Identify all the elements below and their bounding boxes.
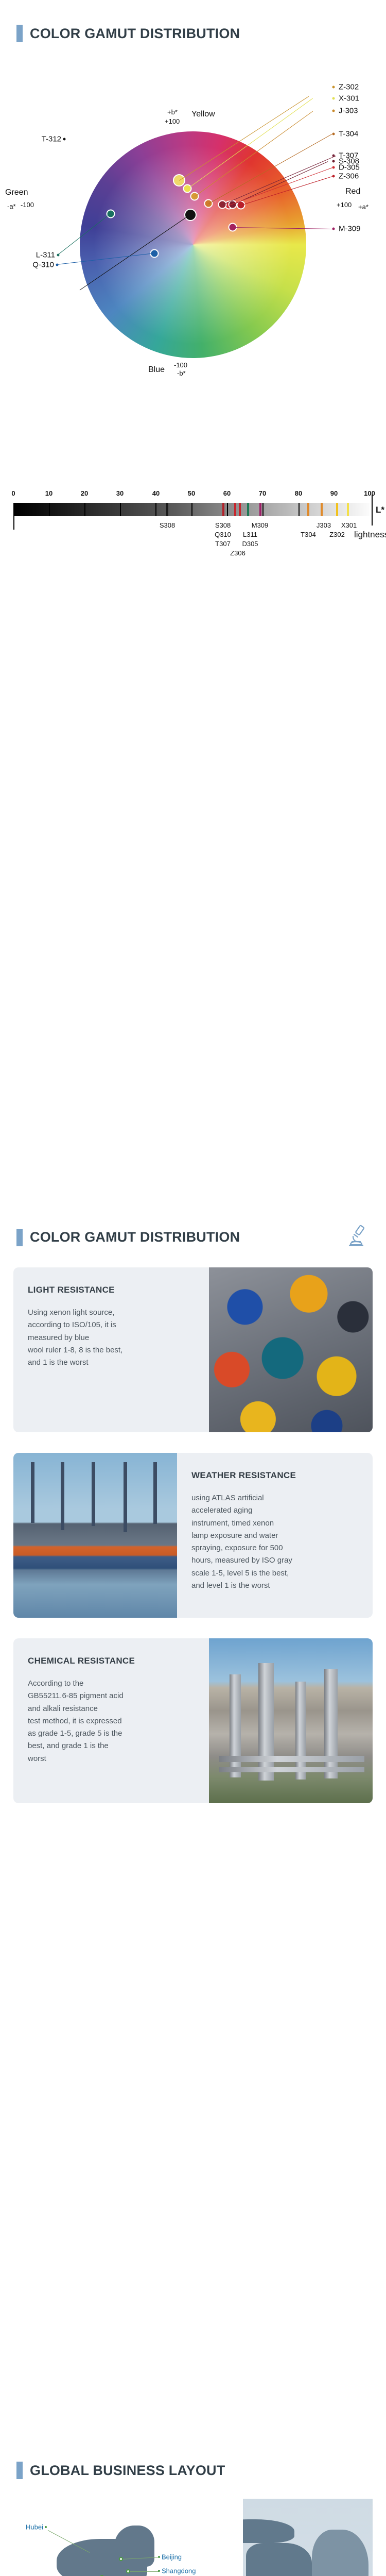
lightness-marker-L311[interactable] (247, 503, 249, 516)
lightness-label-X301: X301 (341, 521, 357, 529)
leader-end-T-312 (63, 138, 66, 141)
lstar-tick-20: 20 (81, 489, 88, 497)
lightness-label-D305: D305 (242, 540, 258, 548)
leader-label-Q-310: Q-310 (32, 261, 54, 269)
lightness-marker-Z302[interactable] (336, 503, 338, 516)
leader-end-M-309 (332, 228, 335, 230)
refinery-pipes-photo (209, 1638, 373, 1803)
city-marker-beijing[interactable] (119, 2557, 123, 2561)
leader-label-L-311: L-311 (36, 251, 55, 260)
axis-bottom-name: Blue (148, 365, 165, 375)
axis-bottom-value: -100 (174, 361, 187, 369)
lightness-end-bar (372, 495, 373, 526)
leader-end-J-303 (332, 110, 335, 112)
lstar-tick-90: 90 (330, 489, 338, 497)
leader-end-X-301 (332, 97, 335, 100)
heading-accent-bar (16, 25, 23, 42)
leader-end-T-304 (332, 133, 335, 135)
axis-top-name: Yellow (191, 110, 215, 119)
leader-end-Q-310 (56, 264, 59, 266)
lightness-marker-S308-b[interactable] (222, 503, 224, 516)
lightness-tickmark-30 (120, 503, 121, 516)
lightness-axis-label: L* (376, 505, 384, 515)
lightness-label-J303: J303 (317, 521, 331, 529)
card-chemical-resistance: CHEMICAL RESISTANCE According to the GB5… (13, 1638, 373, 1803)
lightness-marker-S308-a[interactable] (166, 503, 168, 516)
city-marker-shangdong[interactable] (126, 2569, 130, 2573)
lstar-tick-50: 50 (188, 489, 195, 497)
leader-label-D-305: D-305 (339, 163, 360, 172)
lstar-tick-0: 0 (11, 489, 15, 497)
leader-label-M-309: M-309 (339, 225, 361, 233)
card-title: CHEMICAL RESISTANCE (28, 1656, 196, 1666)
leader-label-T-304: T-304 (339, 130, 358, 139)
leader-label-T-312: T-312 (42, 135, 61, 144)
leader-label-Z-302: Z-302 (339, 83, 359, 92)
lstar-tick-80: 80 (295, 489, 302, 497)
card-body: According to the GB55211.6-85 pigment ac… (28, 1677, 196, 1765)
lstar-tick-40: 40 (152, 489, 160, 497)
lightness-label-Z302: Z302 (329, 531, 345, 538)
lstar-tick-10: 10 (45, 489, 52, 497)
city-marker-central[interactable] (100, 2575, 104, 2576)
section-color-gamut-chart: COLOR GAMUT DISTRIBUTION +b* Yellow +100… (0, 0, 386, 598)
lightness-marker-D305[interactable] (239, 503, 241, 516)
cn-label-shangdong: Shangdong (162, 2567, 196, 2575)
lstar-tick-100: 100 (364, 489, 375, 497)
lightness-marker-X301[interactable] (347, 503, 349, 516)
lightness-axis-caption: lightness (354, 530, 386, 540)
cn-linedot-beijing (158, 2556, 160, 2558)
lab-gamut-disc (80, 131, 306, 358)
card-text-column: CHEMICAL RESISTANCE According to the GB5… (13, 1638, 209, 1803)
leader-end-D-305 (332, 166, 335, 169)
lightness-label-S308-a: S308 (160, 521, 175, 529)
axis-top-symbol: +b* (167, 108, 178, 116)
lstar-tick-60: 60 (223, 489, 231, 497)
sample-dot-T-312[interactable] (184, 209, 197, 221)
sample-dot-L-311[interactable] (107, 210, 115, 218)
section-global-business: GLOBAL BUSINESS LAYOUT (0, 1211, 386, 1628)
lightness-label-Z306: Z306 (230, 549, 245, 557)
lightness-label-L311: L311 (243, 531, 257, 538)
axis-left-symbol: -a* (7, 202, 16, 210)
lightness-marker-T307[interactable] (234, 503, 236, 516)
axis-bottom-symbol: -b* (177, 369, 186, 377)
lightness-marker-M309[interactable] (259, 503, 261, 516)
cn-linedot-hubei (45, 2526, 47, 2528)
lightness-tickmark-70 (262, 503, 264, 516)
lightness-tickmark-50 (191, 503, 192, 516)
section-heading-gamut: COLOR GAMUT DISTRIBUTION (0, 25, 240, 42)
lstar-tick-70: 70 (259, 489, 266, 497)
lightness-tick-labels: 0 10 20 30 40 50 60 70 80 90 100 (13, 489, 374, 501)
lightness-tickmark-80 (299, 503, 300, 516)
lstar-tick-30: 30 (116, 489, 124, 497)
axis-left-value: -100 (21, 201, 34, 209)
lightness-label-Q310: Q310 (215, 531, 231, 538)
leader-label-J-303: J-303 (339, 107, 358, 115)
leader-label-X-301: X-301 (339, 94, 359, 103)
lightness-tickmark-10 (49, 503, 50, 516)
leader-end-L-311 (57, 254, 60, 257)
lightness-label-T304: T304 (301, 531, 316, 538)
lightness-origin-bar (13, 503, 14, 530)
heading-accent-bar (16, 2462, 23, 2479)
lightness-tickmark-20 (84, 503, 85, 516)
leader-end-T-307 (332, 155, 335, 157)
cn-linedot-shangdong (158, 2570, 160, 2572)
cn-line-shangdong (128, 2571, 159, 2572)
lightness-label-S308-b: S308 (215, 521, 231, 529)
cn-label-hubei: Hubei (26, 2523, 43, 2531)
axis-top-value: +100 (165, 117, 180, 125)
axis-right-symbol: +a* (358, 203, 369, 211)
leader-end-S-308 (332, 160, 335, 163)
lightness-scale: 0 10 20 30 40 50 60 70 80 90 100 (0, 489, 386, 592)
china-map-panel: Hubei Beijing Shangdong Shanghai Zhejian… (13, 2499, 243, 2576)
leader-end-Z-302 (332, 86, 335, 89)
section-title-global: GLOBAL BUSINESS LAYOUT (30, 2463, 225, 2479)
leader-label-Z-306: Z-306 (339, 172, 359, 181)
world-map: Hubei Beijing Shangdong Shanghai Zhejian… (13, 2499, 373, 2576)
lightness-marker-T304[interactable] (307, 503, 309, 516)
axis-left-name: Green (5, 188, 28, 197)
lightness-label-T307: T307 (215, 540, 231, 548)
leader-end-Z-306 (332, 175, 335, 178)
page-title: COLOR GAMUT DISTRIBUTION (30, 26, 240, 42)
lab-color-wheel-chart: +b* Yellow +100 Green -a* -100 Red +100 … (0, 54, 386, 461)
lightness-marker-J303[interactable] (321, 503, 323, 516)
section-heading-global: GLOBAL BUSINESS LAYOUT (0, 2462, 225, 2479)
lightness-label-M309: M309 (252, 521, 269, 529)
lightness-tickmark-40 (155, 503, 156, 516)
axis-right-value: +100 (337, 201, 352, 209)
section-resistance-tests: COLOR GAMUT DISTRIBUTION LIGHT RESISTANC… (0, 598, 386, 1211)
cn-label-beijing: Beijing (162, 2553, 182, 2561)
lightness-tickmark-60 (227, 503, 228, 516)
axis-right-name: Red (345, 187, 360, 196)
